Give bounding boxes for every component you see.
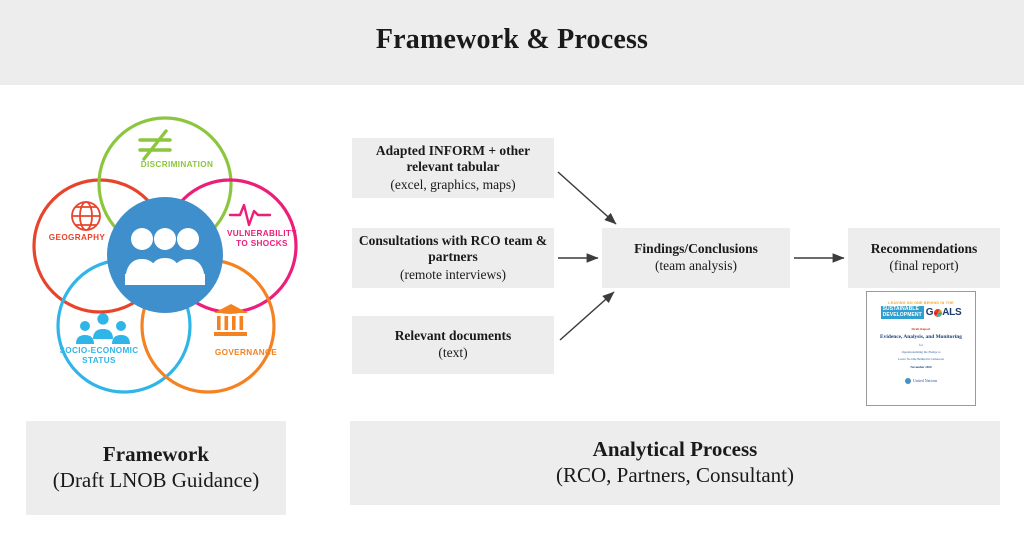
- sdg-logo: SUSTAINABLE DEVELOPMENT G ALS: [881, 306, 962, 319]
- caption-framework-title: Framework: [103, 441, 209, 467]
- venn-label-governance: GOVERNANCE: [194, 348, 298, 358]
- report-draft-label: Draft Report: [880, 327, 962, 331]
- venn-label-geography: GEOGRAPHY: [32, 233, 122, 243]
- page-title: Framework & Process: [0, 24, 1024, 56]
- process-box-recommendations-subtitle: (final report): [889, 257, 958, 275]
- caption-process-subtitle: (RCO, Partners, Consultant): [556, 462, 794, 489]
- sdg-logo-text: SUSTAINABLE DEVELOPMENT: [881, 306, 924, 319]
- caption-framework-subtitle: (Draft LNOB Guidance): [53, 467, 259, 494]
- process-box-inform-title: Adapted INFORM + other relevant tabular: [352, 143, 554, 176]
- classical-building-icon: [214, 304, 248, 336]
- arrow-documents-to-findings: [560, 292, 614, 340]
- not-equal-icon: [140, 131, 170, 159]
- process-box-consultations[interactable]: Consultations with RCO team & partners (…: [352, 228, 554, 288]
- venn-center-circle: [107, 197, 223, 313]
- process-box-consultations-subtitle: (remote interviews): [400, 266, 506, 284]
- slide-canvas: Framework & Process: [0, 0, 1024, 544]
- heartbeat-pulse-icon: [230, 205, 270, 225]
- process-box-findings-subtitle: (team analysis): [655, 257, 737, 275]
- venn-label-discrimination: DISCRIMINATION: [122, 160, 232, 170]
- process-box-consultations-title: Consultations with RCO team & partners: [352, 233, 554, 266]
- venn-label-socio-economic: SOCIO-ECONOMIC STATUS: [46, 346, 152, 367]
- sdg-colorwheel-icon: [934, 309, 942, 317]
- process-box-recommendations-title: Recommendations: [871, 241, 978, 257]
- process-box-documents[interactable]: Relevant documents (text): [352, 316, 554, 374]
- report-date: November 2020: [880, 365, 962, 369]
- lnob-framework-venn: DISCRIMINATION GEOGRAPHY VULNERABILITY T…: [18, 98, 306, 398]
- caption-framework: Framework (Draft LNOB Guidance): [26, 421, 286, 515]
- report-title: Evidence, Analysis, and Monitoring: [880, 334, 962, 341]
- caption-analytical-process: Analytical Process (RCO, Partners, Consu…: [350, 421, 1000, 505]
- process-box-recommendations[interactable]: Recommendations (final report): [848, 228, 1000, 288]
- arrow-inform-to-findings: [558, 172, 616, 224]
- report-cover-thumbnail[interactable]: LEAVING NO ONE BEHIND IN THE SUSTAINABLE…: [866, 291, 976, 406]
- process-box-inform[interactable]: Adapted INFORM + other relevant tabular …: [352, 138, 554, 198]
- three-people-icon: [76, 313, 130, 344]
- report-cover-body: Draft Report Evidence, Analysis, and Mon…: [880, 327, 962, 368]
- caption-process-title: Analytical Process: [593, 436, 758, 462]
- process-box-findings-title: Findings/Conclusions: [634, 241, 758, 257]
- sdg-goals-pre: G: [926, 307, 933, 318]
- report-footer-label: United Nations: [913, 378, 937, 383]
- process-box-documents-title: Relevant documents: [395, 328, 512, 344]
- report-subtitle-1: for: [880, 343, 962, 348]
- report-kicker: LEAVING NO ONE BEHIND IN THE: [888, 301, 953, 305]
- report-footer: United Nations: [905, 378, 937, 384]
- un-emblem-icon: [905, 378, 911, 384]
- venn-label-vulnerability: VULNERABILITY TO SHOCKS: [216, 229, 308, 250]
- globe-icon: [72, 202, 100, 230]
- sdg-logo-line2: DEVELOPMENT: [883, 313, 922, 319]
- sdg-logo-goals: G ALS: [926, 307, 962, 318]
- report-subtitle-3: Leave No One Behind in Cameroon: [880, 357, 962, 362]
- sdg-goals-post: ALS: [942, 307, 961, 318]
- report-subtitle-2: Operationalizing the Pledge to: [880, 350, 962, 355]
- process-box-findings[interactable]: Findings/Conclusions (team analysis): [602, 228, 790, 288]
- process-box-documents-subtitle: (text): [438, 344, 467, 362]
- process-box-inform-subtitle: (excel, graphics, maps): [390, 176, 515, 194]
